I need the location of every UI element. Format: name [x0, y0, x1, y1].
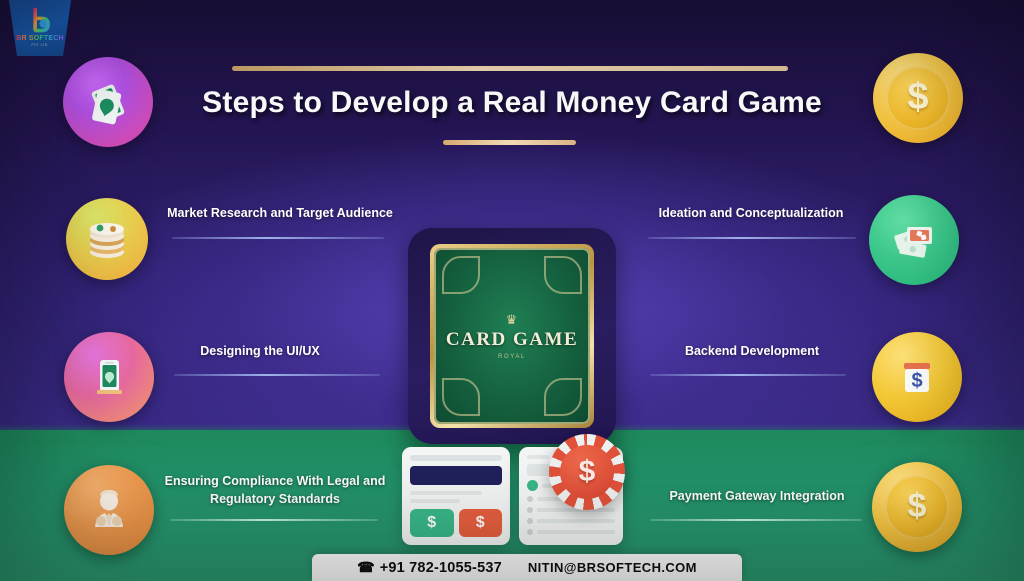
chip-dollar-symbol: $ [560, 445, 615, 500]
step-label-5: Ensuring Compliance With Legal and Regul… [145, 472, 405, 508]
mockup-withdraw-button[interactable]: $ [459, 509, 503, 537]
logo-tagline: PVT. LTD. [32, 43, 49, 47]
card-ornament-bottom-left-icon [442, 378, 480, 416]
center-card-frame: ♛ CARD GAME ROYAL [408, 228, 616, 444]
gold-coin-dollar-icon-bottom: $ [872, 462, 962, 552]
mockup-hero-banner [410, 466, 502, 485]
card-gold-border: ♛ CARD GAME ROYAL [430, 244, 594, 428]
page-title: Steps to Develop a Real Money Card Game [0, 86, 1024, 120]
contact-email[interactable]: NITIN@BRSOFTECH.COM [528, 560, 697, 575]
email-address: NITIN@BRSOFTECH.COM [528, 560, 697, 575]
mockup-list-item [527, 518, 615, 524]
step-label-1: Market Research and Target Audience [140, 204, 420, 222]
svg-text:$: $ [911, 370, 922, 392]
card-title: CARD GAME [446, 329, 578, 351]
card-ornament-top-left-icon [442, 256, 480, 294]
mobile-phone-card-icon [64, 332, 154, 422]
step-underline-1 [172, 237, 384, 239]
step-label-6: Payment Gateway Integration [632, 487, 882, 505]
brand-logo[interactable]: BR SOFTECH PVT. LTD. [8, 0, 72, 56]
poker-chips-stack-icon [66, 198, 148, 280]
step-underline-2 [648, 237, 856, 239]
title-rule-bottom [443, 140, 576, 145]
step-underline-4 [650, 374, 846, 376]
mockup-text-line [410, 491, 482, 495]
step-label-2: Ideation and Conceptualization [618, 204, 884, 222]
phone-icon: ☎ [357, 559, 375, 576]
poker-chip-icon: $ [549, 434, 625, 510]
mockup-button-group: $ $ [410, 509, 502, 537]
phone-number: +91 782-1055-537 [380, 560, 502, 576]
infographic-root: BR SOFTECH PVT. LTD. Steps to Develop a … [0, 0, 1024, 581]
card-face: ♛ CARD GAME ROYAL [434, 248, 590, 424]
app-mockup-left: $ $ [402, 447, 510, 545]
coin-dollar-symbol: $ [886, 66, 951, 131]
mockup-topbar [410, 455, 502, 461]
mockup-list-item [527, 529, 615, 535]
contact-bar: ☎ +91 782-1055-537 NITIN@BRSOFTECH.COM [312, 554, 742, 581]
mockup-list-item [527, 507, 615, 513]
coin-dollar-symbol-bottom: $ [885, 475, 950, 540]
brsoftech-b-logo-icon [27, 7, 53, 33]
card-ornament-bottom-right-icon [544, 378, 582, 416]
contact-phone[interactable]: ☎ +91 782-1055-537 [357, 559, 502, 576]
step-underline-6 [650, 519, 862, 521]
crown-icon: ♛ [506, 312, 519, 328]
step-underline-3 [174, 374, 380, 376]
mockup-text-line [410, 499, 460, 503]
step-label-3: Designing the UI/UX [150, 342, 370, 360]
lawyer-person-icon [64, 465, 154, 555]
title-rule-top [232, 66, 788, 71]
card-ornament-top-right-icon [544, 256, 582, 294]
playing-cards-icon [63, 57, 153, 147]
mockup-deposit-button[interactable]: $ [410, 509, 454, 537]
logo-wordmark: BR SOFTECH [16, 35, 64, 42]
card-subtitle: ROYAL [498, 354, 526, 360]
step-underline-5 [170, 519, 378, 521]
cash-and-dice-icon [869, 195, 959, 285]
step-label-4: Backend Development [640, 342, 864, 360]
gold-coin-dollar-icon: $ [873, 53, 963, 143]
money-jar-icon: $ [872, 332, 962, 422]
